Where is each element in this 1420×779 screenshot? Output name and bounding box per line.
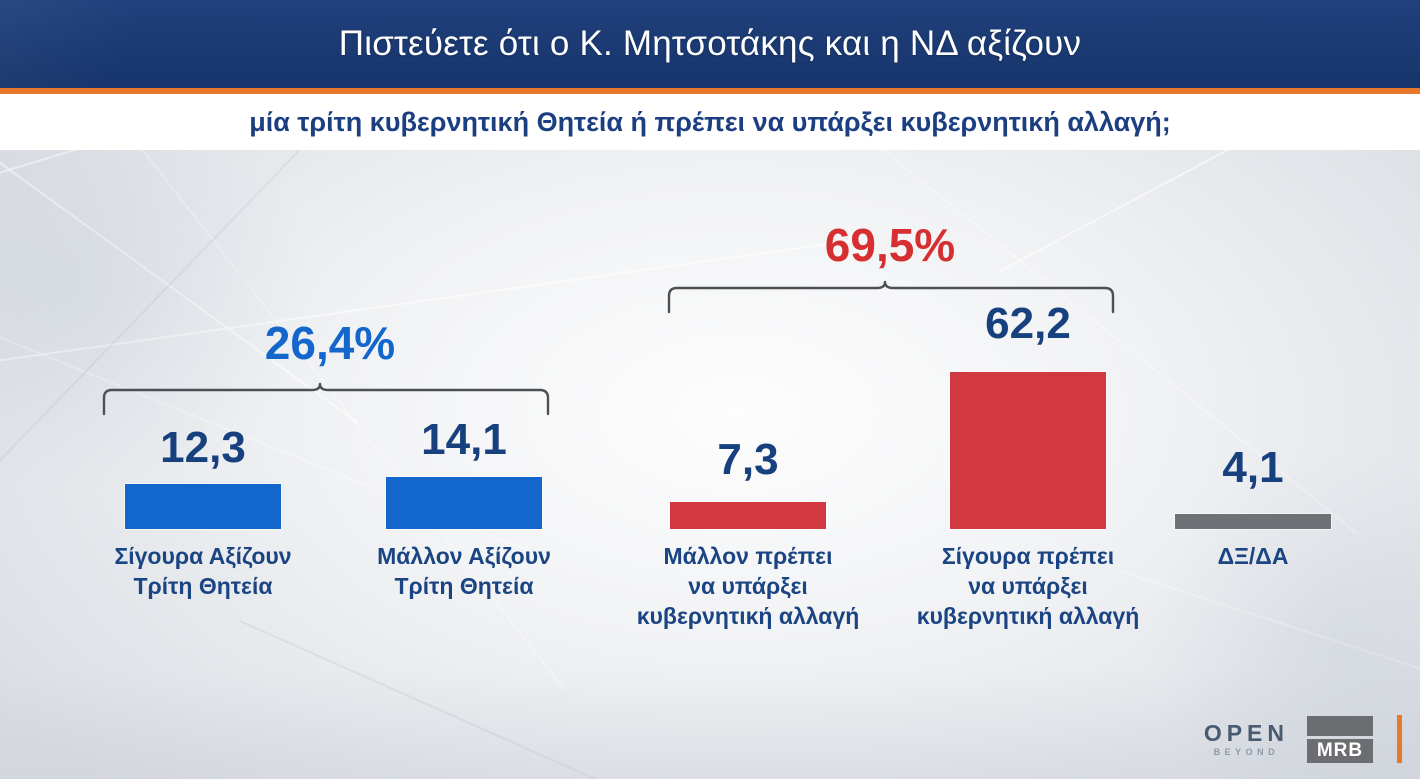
bar-4 (950, 372, 1106, 529)
group-total-right: 69,5% (740, 222, 1040, 268)
bg-texture-line (240, 620, 661, 779)
mrb-logo-bar (1307, 716, 1373, 736)
page-subtitle: μία τρίτη κυβερνητική Θητεία ή πρέπει να… (0, 94, 1420, 150)
bg-texture-line (1000, 150, 1420, 272)
bar-value-3: 7,3 (623, 438, 873, 482)
bg-texture-line (0, 150, 476, 192)
bar-value-2: 14,1 (339, 418, 589, 462)
bar-label-1: Σίγουρα Αξίζουν Τρίτη Θητεία (78, 542, 328, 602)
bar-1 (125, 484, 281, 529)
mrb-logo: MRB (1307, 716, 1373, 763)
chart-canvas: 26,4% 69,5% 12,3 Σίγουρα Αξίζουν Τρίτη Θ… (0, 150, 1420, 779)
bar-value-1: 12,3 (78, 426, 328, 470)
bar-label-3: Μάλλον πρέπει να υπάρξει κυβερνητική αλλ… (608, 542, 888, 632)
bar-value-4: 62,2 (903, 302, 1153, 346)
orange-accent-bar (1397, 715, 1402, 763)
bar-5 (1175, 514, 1331, 529)
mrb-logo-text: MRB (1307, 739, 1373, 763)
open-beyond-logo: OPEN BEYOND (1204, 722, 1289, 757)
bar-label-2: Μάλλον Αξίζουν Τρίτη Θητεία (339, 542, 589, 602)
group-total-left: 26,4% (180, 320, 480, 366)
group-bracket-left (98, 382, 554, 416)
open-logo-text: OPEN (1204, 722, 1289, 745)
bar-value-5: 4,1 (1128, 446, 1378, 490)
bar-3 (670, 502, 826, 529)
bar-label-4: Σίγουρα πρέπει να υπάρξει κυβερνητική αλ… (888, 542, 1168, 632)
page-title: Πιστεύετε ότι ο Κ. Μητσοτάκης και η ΝΔ α… (0, 0, 1420, 88)
logo-row: OPEN BEYOND MRB (1204, 715, 1402, 763)
beyond-logo-text: BEYOND (1214, 748, 1280, 757)
bar-2 (386, 477, 542, 529)
bar-label-5: ΔΞ/ΔΑ (1128, 542, 1378, 572)
poll-graphic: Πιστεύετε ότι ο Κ. Μητσοτάκης και η ΝΔ α… (0, 0, 1420, 779)
